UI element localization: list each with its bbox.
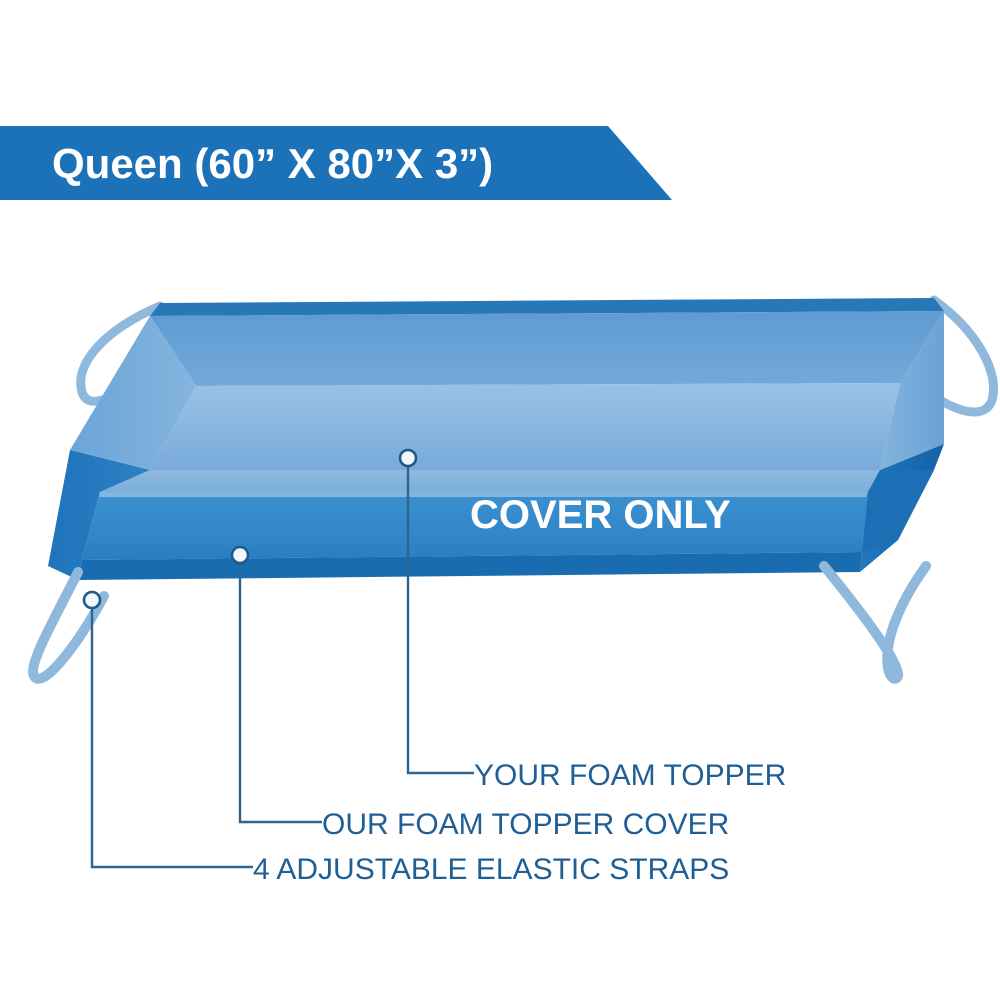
callout-four-adjustable-elastic-straps: 4 ADJUSTABLE ELASTIC STRAPS (84, 592, 729, 886)
callout-leader-line (240, 563, 322, 822)
cover-only-label: COVER ONLY (470, 493, 731, 537)
foam-topper-front-band (100, 470, 880, 492)
callout-leader-line (92, 608, 253, 867)
product-diagram: Queen (60” X 80”X 3”) (0, 0, 1000, 1000)
foam-topper-top-surface (150, 383, 900, 470)
cover-inner-back-wall (150, 311, 944, 386)
strap-front-right (824, 566, 926, 679)
strap-front-left (33, 572, 104, 679)
callout-our-foam-topper-cover: OUR FOAM TOPPER COVER (232, 547, 729, 841)
callout-label: YOUR FOAM TOPPER (474, 759, 786, 792)
elastic-straps-front-group (33, 566, 926, 679)
size-banner: Queen (60” X 80”X 3”) (0, 126, 672, 200)
banner-label: Queen (60” X 80”X 3”) (52, 140, 493, 187)
diagram-page: Queen (60” X 80”X 3”) (0, 0, 1000, 1000)
callout-label: OUR FOAM TOPPER COVER (322, 808, 729, 841)
callout-marker-dot (232, 547, 248, 563)
callout-marker-dot (84, 592, 100, 608)
callout-marker-dot (400, 450, 416, 466)
callout-label: 4 ADJUSTABLE ELASTIC STRAPS (253, 853, 729, 886)
foam-topper-cover: COVER ONLY (48, 298, 944, 580)
